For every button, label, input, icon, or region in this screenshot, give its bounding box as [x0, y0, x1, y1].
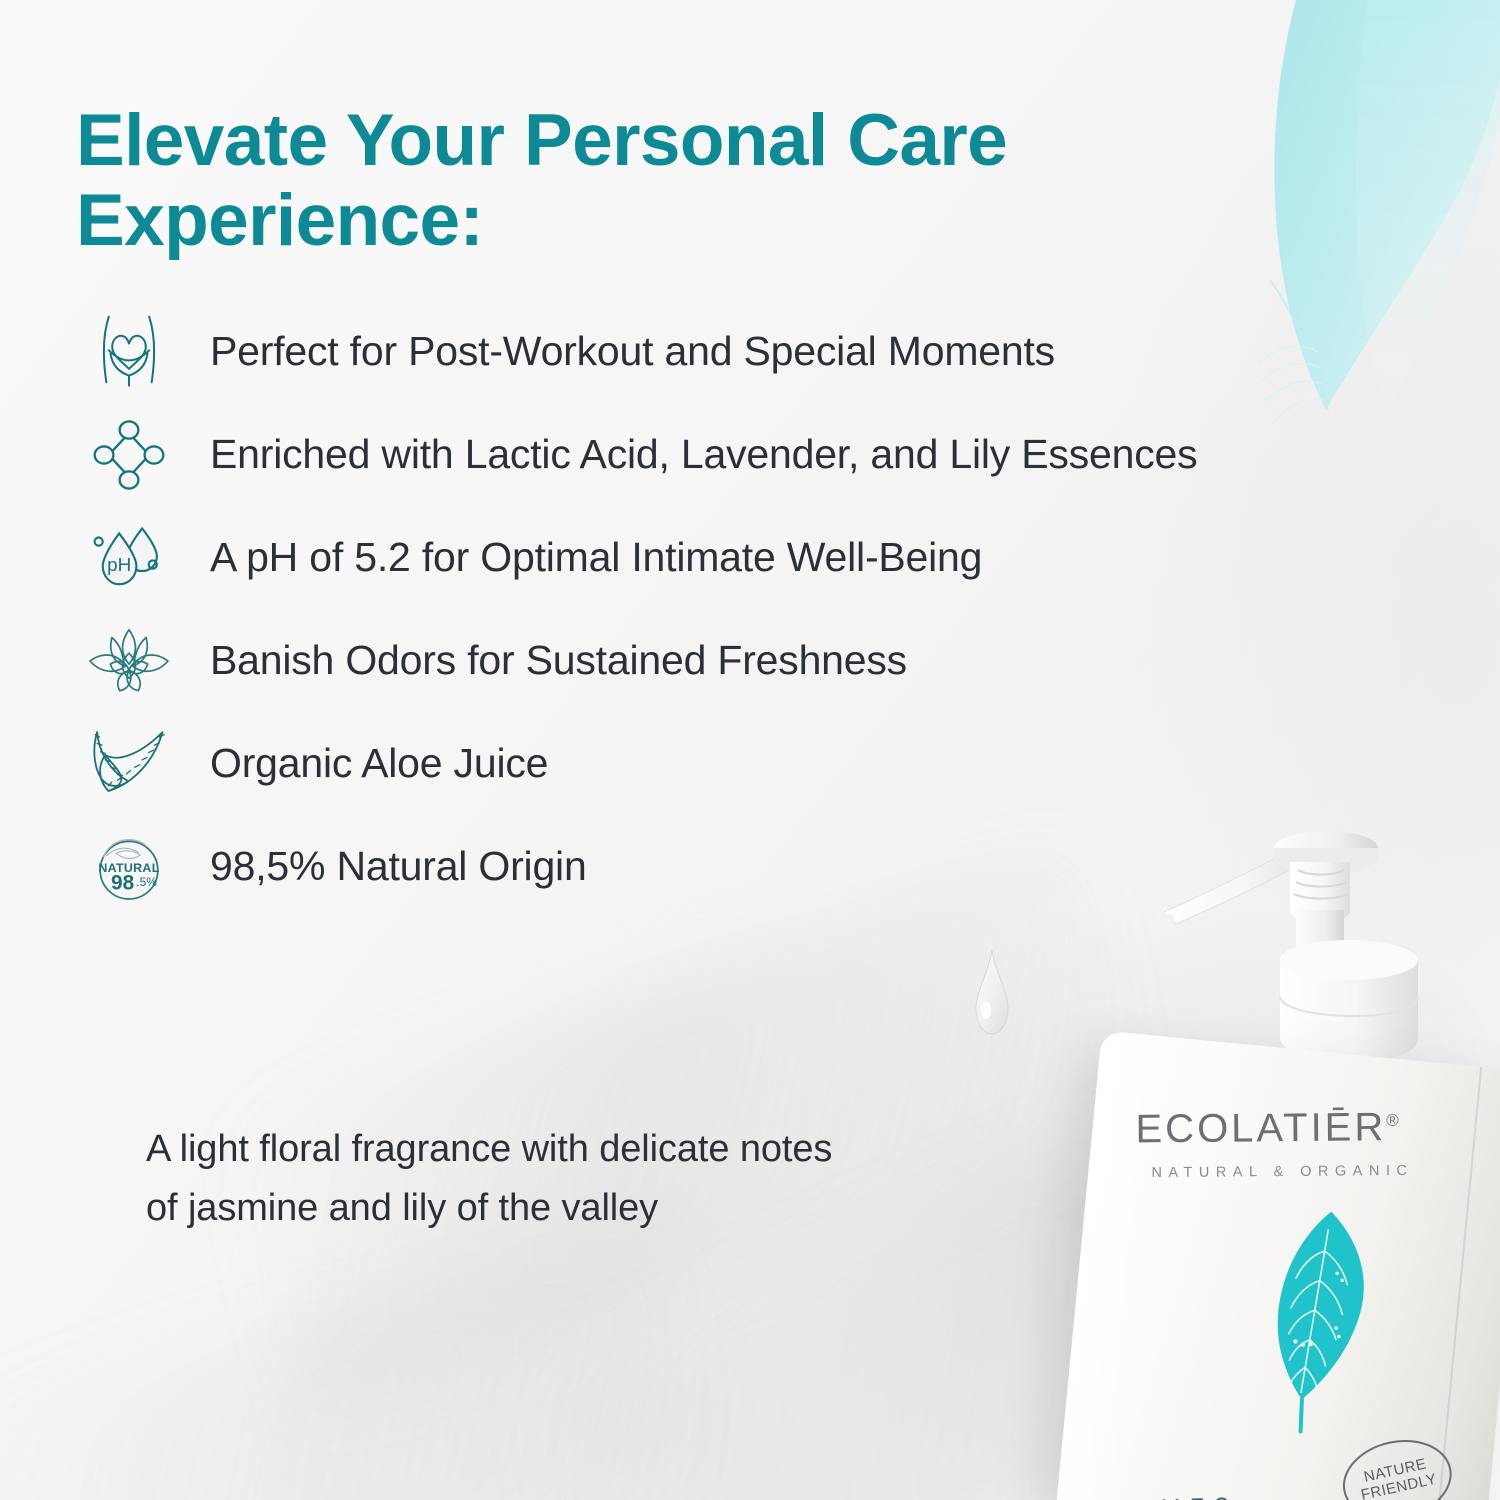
- headline-line-1: Elevate Your Personal Care: [76, 100, 1007, 181]
- natural-badge-value: 98: [111, 871, 134, 894]
- ph-label: pH: [107, 554, 131, 575]
- product-marketing-image: Elevate Your Personal Care Experience: P…: [0, 0, 1500, 1500]
- brand-tagline: NATURAL & ORGANIC: [1151, 1162, 1481, 1181]
- feature-text: Enriched with Lactic Acid, Lavender, and…: [188, 431, 1197, 478]
- feature-item: Banish Odors for Sustained Freshness: [70, 609, 1400, 712]
- brand-name: ECOLATIĒR®: [1135, 1105, 1465, 1153]
- headline-line-2: Experience:: [76, 180, 483, 261]
- feature-text: Organic Aloe Juice: [188, 740, 548, 787]
- feature-item: Enriched with Lactic Acid, Lavender, and…: [70, 403, 1400, 506]
- lotus-flower-icon: [70, 611, 188, 711]
- registered-mark: ®: [1386, 1111, 1399, 1130]
- brand-name-text: ECOLATIĒR: [1135, 1105, 1386, 1151]
- feature-item: pH A pH of 5.2 for Optimal Intimate Well…: [70, 506, 1400, 609]
- body-underwear-heart-icon: [70, 302, 188, 402]
- aloe-leaf-icon: [70, 714, 188, 814]
- bottle-label: ECOLATIĒR® NATURAL & ORGANIC: [1056, 1030, 1500, 1500]
- natural-percentage-badge-icon: NATURAL 98 .5%: [70, 817, 188, 917]
- page-title: Elevate Your Personal Care Experience:: [76, 101, 1156, 262]
- feature-text: Perfect for Post-Workout and Special Mom…: [188, 328, 1055, 375]
- liquid-droplet-icon: [970, 948, 1014, 1038]
- feature-text: A pH of 5.2 for Optimal Intimate Well-Be…: [188, 534, 982, 581]
- background-shadow-band: [0, 1232, 720, 1500]
- product-bottle-photo: ECOLATIĒR® NATURAL & ORGANIC: [930, 800, 1500, 1500]
- bottle-ph-label: pH 5,2: [1144, 1492, 1230, 1500]
- fragrance-note: A light floral fragrance with delicate n…: [146, 1120, 1046, 1238]
- feature-text: Banish Odors for Sustained Freshness: [188, 637, 907, 684]
- fragrance-note-line-2: of jasmine and lily of the valley: [146, 1179, 1046, 1238]
- fragrance-note-line-1: A light floral fragrance with delicate n…: [146, 1120, 1046, 1179]
- feature-text: 98,5% Natural Origin: [188, 843, 587, 890]
- natural-badge-decimal: .5%: [136, 875, 157, 889]
- bottle-body: ECOLATIĒR® NATURAL & ORGANIC: [1056, 1030, 1500, 1500]
- ph-droplet-icon: pH: [70, 508, 188, 608]
- feature-item: Perfect for Post-Workout and Special Mom…: [70, 300, 1400, 403]
- bottle-feather-leaf-icon: [1235, 1196, 1391, 1443]
- molecule-icon: [70, 405, 188, 505]
